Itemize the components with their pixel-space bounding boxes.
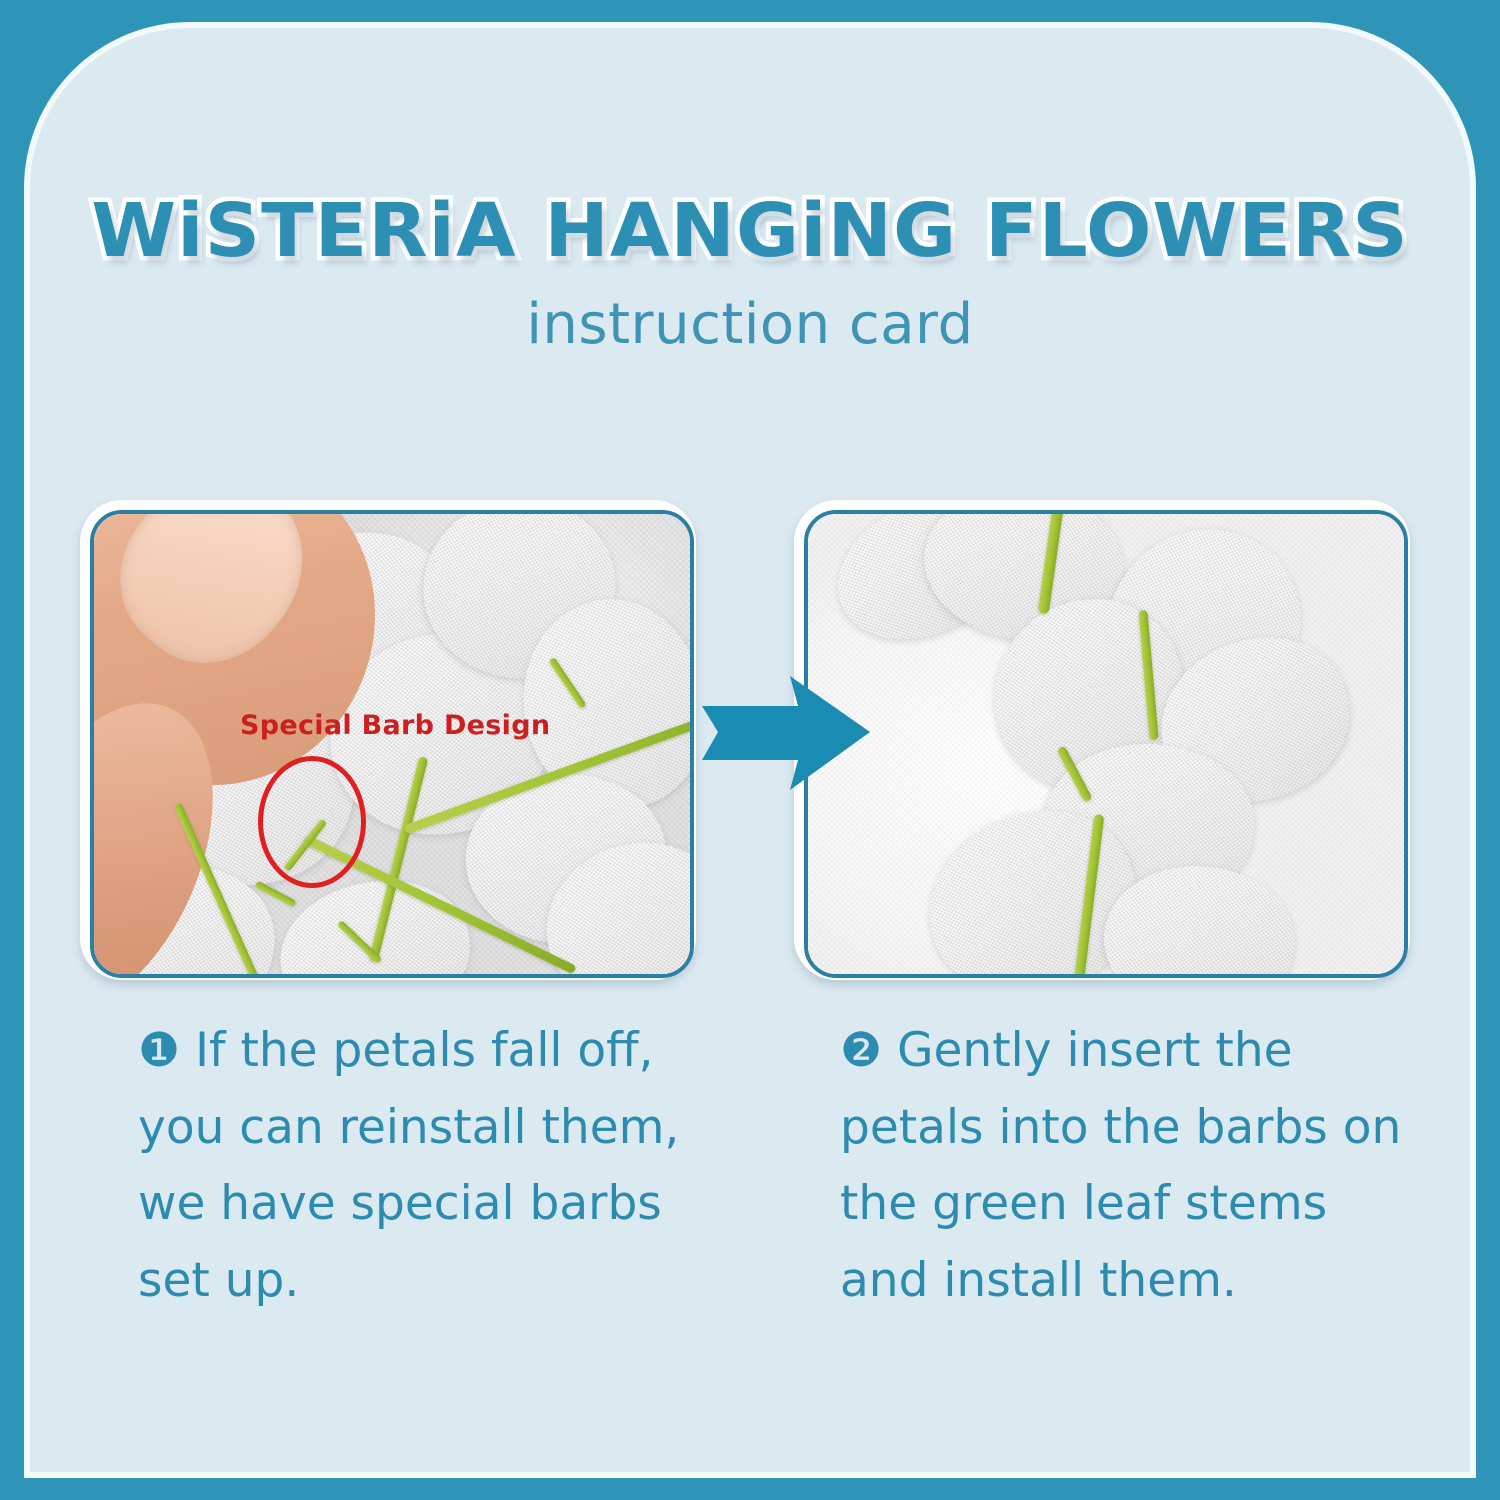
step-1-text: If the petals fall off, you can reinstal… (138, 1023, 679, 1308)
page-subtitle: instruction card (30, 292, 1470, 357)
annotation-label: Special Barb Design (240, 710, 550, 741)
card-header: WiSTERiA HANGiNG FLOWERS instruction car… (30, 28, 1470, 357)
right-arrow-icon (702, 668, 872, 798)
photo-image-before: Special Barb Design (94, 514, 690, 974)
photo-panel-before: Special Barb Design (80, 500, 696, 980)
instruction-card: WiSTERiA HANGiNG FLOWERS instruction car… (30, 28, 1470, 1472)
photo-panel-after (794, 500, 1410, 980)
page-title: WiSTERiA HANGiNG FLOWERS (30, 28, 1470, 274)
step-2: ❷ Gently insert the petals into the barb… (750, 1013, 1470, 1319)
step-1-number: ❶ (138, 1023, 180, 1078)
photo-frame-after (804, 510, 1408, 978)
photo-frame-before: Special Barb Design (90, 510, 694, 978)
step-1: ❶ If the petals fall off, you can reinst… (30, 1013, 750, 1319)
fingernail (90, 510, 339, 696)
instruction-steps: ❶ If the petals fall off, you can reinst… (30, 1013, 1470, 1319)
photo-image-after (808, 514, 1404, 974)
step-2-number: ❷ (840, 1023, 882, 1078)
annotation-circle (258, 756, 366, 888)
step-2-text: Gently insert the petals into the barbs … (840, 1023, 1401, 1308)
